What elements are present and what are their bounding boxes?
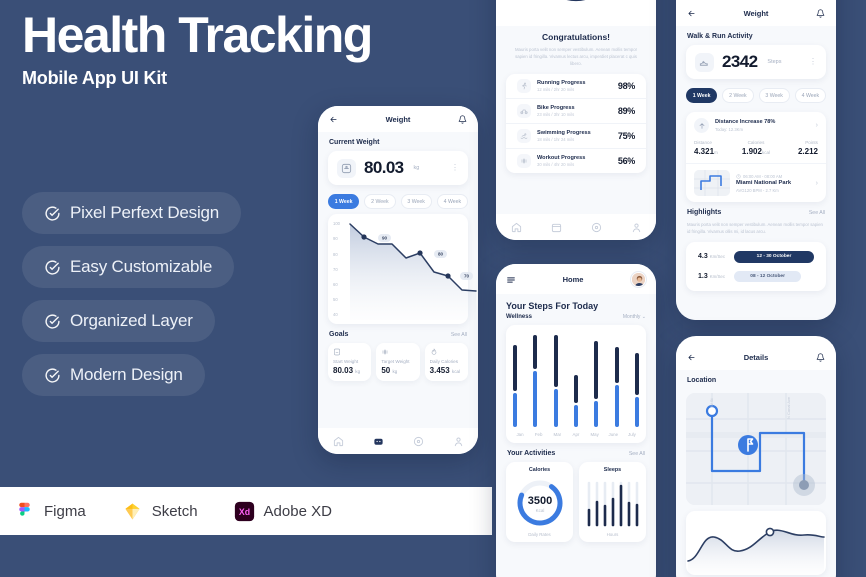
see-all-link[interactable]: See All xyxy=(809,210,825,216)
goals-header: Goals See All xyxy=(318,324,478,343)
swimming-icon xyxy=(517,129,531,143)
arrow-left-icon[interactable] xyxy=(329,115,338,124)
progress-row-workout[interactable]: Workout Progress 30 mils / 4hr 20 mils 5… xyxy=(506,148,646,173)
activity-icon[interactable] xyxy=(551,222,562,233)
current-weight-label: Current Weight xyxy=(318,132,478,151)
highlights-label: Highlights xyxy=(687,209,721,216)
details-appbar: Details xyxy=(676,344,836,370)
chevron-right-icon[interactable]: › xyxy=(816,180,818,187)
bar-column xyxy=(594,331,598,427)
location-label: Location xyxy=(676,370,836,389)
phone-congrats-screen: 3 Congratulations! Mauris porta velit no… xyxy=(496,0,656,240)
bell-icon[interactable] xyxy=(816,353,825,362)
steps-stat-row: 2342 Steps ⋮ xyxy=(686,45,826,79)
bottom-tab-bar xyxy=(496,214,656,240)
week-filter-4[interactable]: 4 Week xyxy=(795,88,826,103)
location-icon[interactable] xyxy=(413,436,424,447)
metric-distance: Distance 4.321m xyxy=(694,140,735,156)
feature-pill: Pixel Perfext Design xyxy=(22,192,241,234)
feature-label: Pixel Perfext Design xyxy=(70,203,219,223)
tool-compatibility-bar: Figma Sketch Xd Adobe XD xyxy=(0,487,492,535)
check-circle-icon xyxy=(44,367,61,384)
feature-pill: Easy Customizable xyxy=(22,246,234,288)
metric-value: 2.212 xyxy=(777,147,818,156)
week-filter-group: 1 Week 2 Week 3 Week 4 Week xyxy=(318,185,478,214)
metric-value: 1.902kcal xyxy=(735,147,776,156)
home-title: Your Steps For Today xyxy=(496,294,656,314)
page-subtitle: Mobile App UI Kit xyxy=(22,68,462,89)
dumbbell-icon xyxy=(381,348,389,356)
goal-card-daily-calories: Daily Calories 3.453 kcal xyxy=(425,343,468,381)
goal-card-start-weight: Start Weight 80.03 kg xyxy=(328,343,371,381)
tool-item-adobe-xd: Xd Adobe XD xyxy=(234,501,332,522)
progress-detail: 18 mils / 1hr 24 mils xyxy=(537,137,591,142)
feature-label: Easy Customizable xyxy=(70,257,212,277)
tool-item-sketch: Sketch xyxy=(122,501,198,522)
bike-icon xyxy=(517,104,531,118)
phone-home-screen: Home Your Steps For Today Wellness Month… xyxy=(496,264,656,577)
bell-icon[interactable] xyxy=(816,9,825,18)
home-screen: Home Your Steps For Today Wellness Month… xyxy=(496,264,656,577)
walk-run-screen: Weight Walk & Run Activity 2342 Steps ⋮ … xyxy=(676,0,836,320)
metric-label: Calories xyxy=(735,140,776,145)
progress-row-running[interactable]: Running Progress 12 mils / 2hr 20 mils 9… xyxy=(506,74,646,98)
route-detail: AVG120 BPM - 2.7 Km xyxy=(736,188,791,193)
feature-label: Organized Layer xyxy=(70,311,193,331)
goal-value: 80.03 kg xyxy=(333,366,366,375)
weight-stat-row: 80.03 kg ⋮ xyxy=(328,151,468,185)
week-filter-1[interactable]: 1 Week xyxy=(328,194,359,209)
distance-card: Distance Increase 78% Today: 12.3Km › Di… xyxy=(686,112,826,202)
highlight-row-1: 4.3 Km/Sec 12 - 30 October xyxy=(690,247,822,267)
progress-percent: 56% xyxy=(618,156,635,166)
adobe-xd-logo: Xd xyxy=(234,501,255,522)
route-time: 06:00 AM - 08:00 AM xyxy=(736,174,791,179)
wellness-bar-chart: Jan Feb Mar Apr May June July xyxy=(506,325,646,443)
chart-label-80: 80 xyxy=(434,242,447,260)
promo-block: Health Tracking Mobile App UI Kit xyxy=(22,8,462,89)
profile-icon[interactable] xyxy=(631,222,642,233)
goals-label: Goals xyxy=(329,331,348,338)
progress-detail: 23 mils / 3hr 10 mils xyxy=(537,112,575,117)
progress-detail: 12 mils / 2hr 20 mils xyxy=(537,87,585,92)
week-filter-3[interactable]: 3 Week xyxy=(401,194,432,209)
x-tick: Jan xyxy=(513,432,527,437)
bar-column xyxy=(513,331,517,427)
calories-footer: Daily Rates xyxy=(510,532,569,537)
scale-icon xyxy=(337,159,356,178)
home-icon[interactable] xyxy=(333,436,344,447)
progress-percent: 75% xyxy=(618,131,635,141)
steps-value: 2342 xyxy=(722,52,757,72)
weight-value: 80.03 xyxy=(364,158,404,178)
weight-screen: Weight Current Weight 80.03 kg ⋮ 1 Week xyxy=(318,106,478,454)
page-title: Weight xyxy=(386,115,411,124)
steps-card: 2342 Steps ⋮ xyxy=(686,45,826,79)
progress-name: Bike Progress xyxy=(537,105,575,111)
bar-column xyxy=(533,331,537,427)
y-tick: 60 xyxy=(333,282,340,287)
calories-unit: Kcal xyxy=(535,508,544,513)
activity-wave-chart xyxy=(686,511,826,575)
phone-weight-screen: Weight Current Weight 80.03 kg ⋮ 1 Week xyxy=(318,106,478,454)
distance-subtitle: Today: 12.3Km xyxy=(715,127,775,132)
steps-unit: Steps xyxy=(767,59,781,65)
progress-row-swimming[interactable]: Swimming Progress 18 mils / 1hr 24 mils … xyxy=(506,123,646,148)
page-title: Health Tracking xyxy=(22,8,462,62)
chart-label-90: 90 xyxy=(378,226,391,244)
page-title: Weight xyxy=(744,9,769,18)
highlight-range-badge[interactable]: 08 - 12 October xyxy=(734,271,801,283)
location-map[interactable]: W St N Canal Ave xyxy=(686,393,826,505)
x-tick: July xyxy=(625,432,639,437)
weight-line-chart: 100 90 80 70 60 50 40 xyxy=(328,214,468,324)
home-appbar: Home xyxy=(496,264,656,294)
sleeps-bar-chart xyxy=(584,477,642,529)
progress-name: Running Progress xyxy=(537,80,585,86)
week-filter-2[interactable]: 2 Week xyxy=(722,88,753,103)
y-tick: 90 xyxy=(333,236,340,241)
metric-value: 4.321m xyxy=(694,147,735,156)
chart-plot-area xyxy=(348,220,478,320)
highlight-value: 1.3 Km/Sec xyxy=(698,273,728,280)
details-screen: Details Location xyxy=(676,344,836,577)
svg-text:N Canal Ave: N Canal Ave xyxy=(786,396,791,419)
more-vertical-icon[interactable]: ⋮ xyxy=(451,165,459,171)
goal-card-target-weight: Target Weight 50 kg xyxy=(376,343,419,381)
page-title: Home xyxy=(563,275,584,284)
weight-unit: kg xyxy=(414,165,420,171)
week-filter-4[interactable]: 4 Week xyxy=(437,194,468,209)
metric-points: Points 2.212 xyxy=(777,140,818,156)
week-filter-group: 1 Week 2 Week 3 Week 4 Week xyxy=(676,79,836,108)
more-vertical-icon[interactable]: ⋮ xyxy=(809,59,817,65)
map-route-row[interactable]: 06:00 AM - 08:00 AM Miami National Park … xyxy=(686,163,826,202)
highlights-body: Mauris porta velit non semper vestibulum… xyxy=(676,221,836,242)
progress-row-bike[interactable]: Bike Progress 23 mils / 3hr 10 mils 89% xyxy=(506,98,646,123)
chart-y-axis: 100 90 80 70 60 50 40 xyxy=(333,221,340,317)
walk-run-label: Walk & Run Activity xyxy=(676,26,836,45)
feature-pill: Modern Design xyxy=(22,354,205,396)
shoe-icon xyxy=(695,53,714,72)
see-all-link[interactable]: See All xyxy=(451,332,467,338)
bottom-tab-bar xyxy=(318,428,478,454)
activities-label: Your Activities xyxy=(507,450,555,457)
tool-label: Adobe XD xyxy=(264,503,332,520)
figma-logo xyxy=(14,501,35,522)
avatar[interactable] xyxy=(631,272,646,287)
highlights-header: Highlights See All xyxy=(676,202,836,221)
progress-list: Running Progress 12 mils / 2hr 20 mils 9… xyxy=(506,74,646,173)
goal-value: 3.453 kcal xyxy=(430,366,463,375)
calories-donut-chart: 3500 Kcal xyxy=(514,477,566,529)
sleeps-footer: Hours xyxy=(583,532,642,537)
running-icon xyxy=(517,79,531,93)
wellness-label: Wellness xyxy=(506,314,532,320)
range-select[interactable]: Monthly ⌄ xyxy=(623,314,646,320)
bar-column xyxy=(554,331,558,427)
distance-title: Distance Increase 78% xyxy=(715,119,775,125)
walk-appbar: Weight xyxy=(676,0,836,26)
runner-illustration: 3 xyxy=(496,0,656,26)
phone-details-screen: Details Location xyxy=(676,336,836,577)
route-map-thumbnail xyxy=(694,170,730,196)
x-tick: June xyxy=(606,432,620,437)
y-tick: 80 xyxy=(333,252,340,257)
week-filter-1[interactable]: 1 Week xyxy=(686,88,717,103)
highlight-row-2: 1.3 Km/Sec 08 - 12 October xyxy=(690,267,822,287)
ui-kit-poster: Health Tracking Mobile App UI Kit Pixel … xyxy=(0,0,866,577)
home-icon[interactable] xyxy=(511,222,522,233)
progress-name: Swimming Progress xyxy=(537,130,591,136)
scale-icon xyxy=(333,348,341,356)
congrats-title: Congratulations! xyxy=(496,26,656,46)
bar-column xyxy=(635,331,639,427)
x-tick: May xyxy=(588,432,602,437)
chart-x-axis: Jan Feb Mar Apr May June July xyxy=(506,429,646,443)
highlight-range-badge[interactable]: 12 - 30 October xyxy=(734,251,814,263)
bar-column xyxy=(615,331,619,427)
wellness-header: Wellness Monthly ⌄ xyxy=(496,314,656,325)
chart-label-70: 70 xyxy=(460,264,473,282)
goal-value: 50 kg xyxy=(381,366,414,375)
check-circle-icon xyxy=(44,313,61,330)
clock-icon xyxy=(736,174,741,179)
sketch-logo xyxy=(122,501,143,522)
dumbbell-icon xyxy=(517,154,531,168)
week-filter-3[interactable]: 3 Week xyxy=(759,88,790,103)
y-tick: 40 xyxy=(333,312,340,317)
current-weight-card: 80.03 kg ⋮ xyxy=(328,151,468,185)
y-tick: 100 xyxy=(333,221,340,226)
progress-detail: 30 mils / 4hr 20 mils xyxy=(537,162,585,167)
chevron-right-icon[interactable]: › xyxy=(816,122,818,129)
calories-title: Calories xyxy=(510,467,569,473)
goal-label: Daily Calories xyxy=(430,359,463,364)
activity-cards: Calories 3500 Kcal Daily Rates Sleeps xyxy=(496,462,656,542)
tool-item-figma: Figma xyxy=(14,501,86,522)
goal-label: Start Weight xyxy=(333,359,366,364)
feature-label: Modern Design xyxy=(70,365,183,385)
check-circle-icon xyxy=(44,259,61,276)
week-filter-2[interactable]: 2 Week xyxy=(364,194,395,209)
progress-percent: 98% xyxy=(618,81,635,91)
arrow-left-icon[interactable] xyxy=(687,353,696,362)
y-tick: 50 xyxy=(333,297,340,302)
page-title: Details xyxy=(744,353,769,362)
profile-icon[interactable] xyxy=(453,436,464,447)
see-all-link[interactable]: See All xyxy=(629,451,645,457)
tool-label: Sketch xyxy=(152,503,198,520)
goals-list: Start Weight 80.03 kg Target Weight 50 k… xyxy=(318,343,478,381)
hamburger-icon[interactable] xyxy=(506,275,515,284)
metric-label: Points xyxy=(777,140,818,145)
route-name: Miami National Park xyxy=(736,180,791,186)
x-tick: Feb xyxy=(532,432,546,437)
bell-icon[interactable] xyxy=(458,115,467,124)
congrats-body: Mauris porta velit non semper vestibulum… xyxy=(496,46,656,74)
phone-walk-run-screen: Weight Walk & Run Activity 2342 Steps ⋮ … xyxy=(676,0,836,320)
sleeps-card[interactable]: Sleeps Hours xyxy=(579,462,646,542)
feature-pill: Organized Layer xyxy=(22,300,215,342)
metric-calories: Calories 1.902kcal xyxy=(735,140,776,156)
location-icon[interactable] xyxy=(591,222,602,233)
svg-text:Xd: Xd xyxy=(238,507,249,517)
x-tick: Apr xyxy=(569,432,583,437)
progress-name: Workout Progress xyxy=(537,155,585,161)
chart-plot-area xyxy=(506,325,646,429)
congrats-screen: 3 Congratulations! Mauris porta velit no… xyxy=(496,0,656,240)
goal-label: Target Weight xyxy=(381,359,414,364)
activity-icon[interactable] xyxy=(373,436,384,447)
metric-label: Distance xyxy=(694,140,735,145)
weight-appbar: Weight xyxy=(318,106,478,132)
calories-value: 3500 xyxy=(527,495,551,507)
highlights-card: 4.3 Km/Sec 12 - 30 October 1.3 Km/Sec 08… xyxy=(686,242,826,292)
arrow-left-icon[interactable] xyxy=(687,9,696,18)
trend-up-icon xyxy=(694,118,709,133)
y-tick: 70 xyxy=(333,267,340,272)
activities-header: Your Activities See All xyxy=(496,443,656,462)
progress-percent: 89% xyxy=(618,106,635,116)
chart-plot-area xyxy=(686,511,826,575)
svg-text:W St: W St xyxy=(709,397,714,407)
feature-list: Pixel Perfext Design Easy Customizable O… xyxy=(22,192,241,408)
sleeps-title: Sleeps xyxy=(583,467,642,473)
x-tick: Mar xyxy=(550,432,564,437)
distance-increase-row[interactable]: Distance Increase 78% Today: 12.3Km › xyxy=(686,112,826,137)
tool-label: Figma xyxy=(44,503,86,520)
highlight-value: 4.3 Km/Sec xyxy=(698,253,728,260)
metrics-row: Distance 4.321m Calories 1.902kcal Point… xyxy=(686,137,826,163)
check-circle-icon xyxy=(44,205,61,222)
flame-icon xyxy=(430,348,438,356)
map-pin-icon xyxy=(738,435,758,455)
calories-card[interactable]: Calories 3500 Kcal Daily Rates xyxy=(506,462,573,542)
bar-column xyxy=(574,331,578,427)
